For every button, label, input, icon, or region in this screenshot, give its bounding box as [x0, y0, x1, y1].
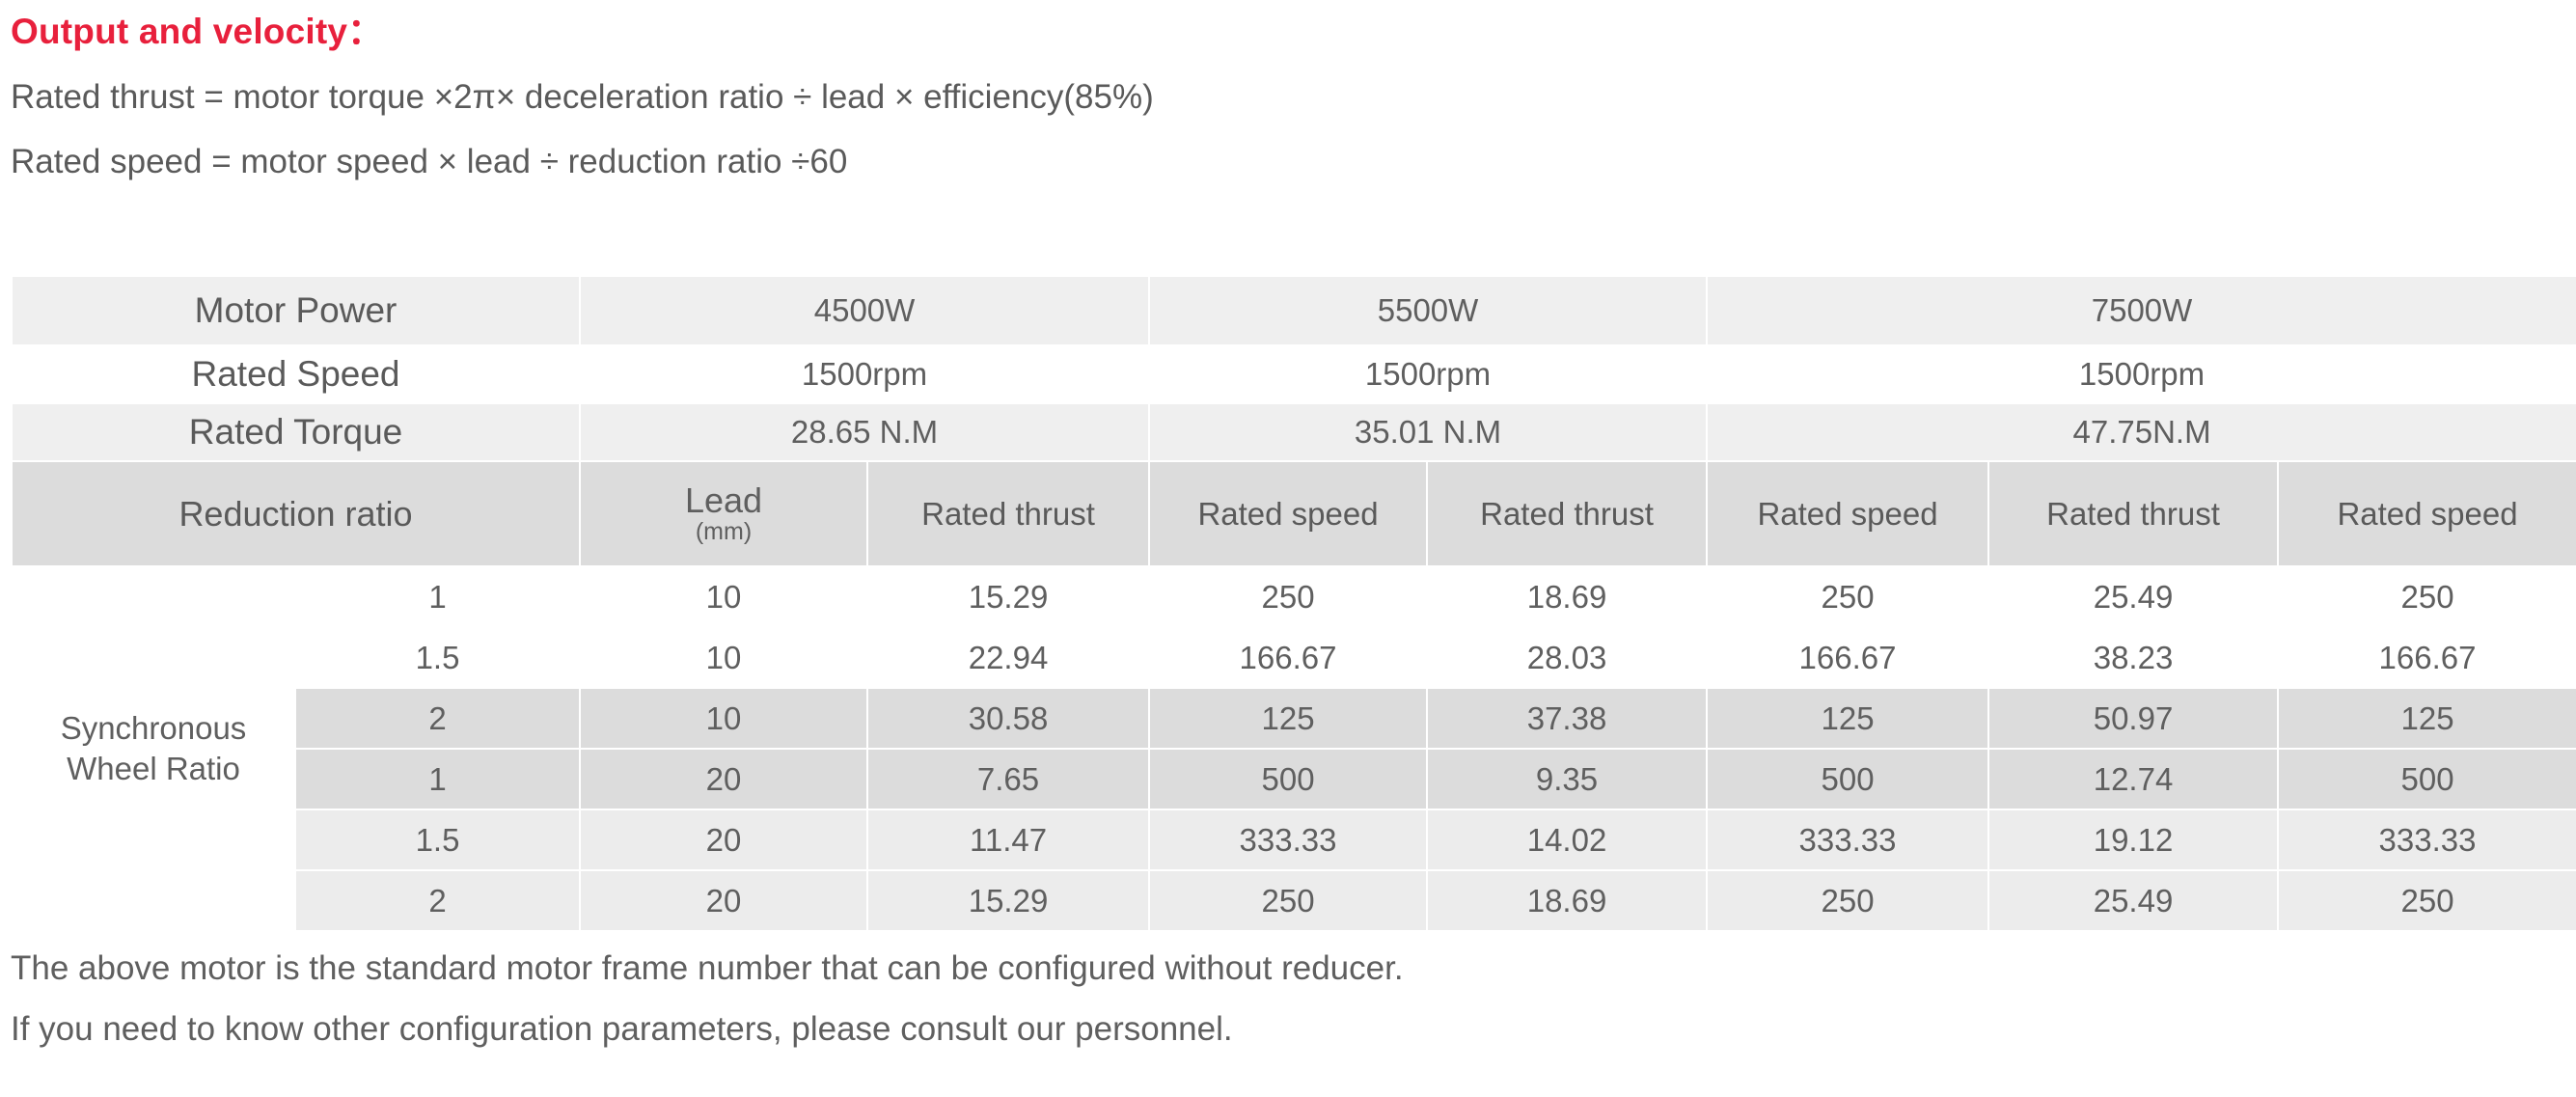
intro-block: Output and velocity： Rated thrust = moto…	[11, 0, 2519, 178]
cell-ratio: 1	[295, 749, 580, 809]
cell-speed-5500: 250	[1707, 566, 1988, 627]
colheader-rated-speed-5500: Rated speed	[1707, 461, 1988, 566]
cell-thrust-5500: 37.38	[1427, 688, 1707, 749]
colheader-rated-speed-7500: Rated speed	[2278, 461, 2576, 566]
cell-thrust-4500: 11.47	[867, 809, 1149, 870]
cell-ratio: 1.5	[295, 809, 580, 870]
formula-rated-speed: Rated speed = motor speed × lead ÷ reduc…	[11, 145, 2519, 178]
colheader-rated-thrust-5500: Rated thrust	[1427, 461, 1707, 566]
colheader-rated-speed-4500: Rated speed	[1149, 461, 1427, 566]
rowgroup-label-synchronous-wheel-ratio: Synchronous Wheel Ratio	[12, 566, 295, 931]
cell-speed-7500: 166.67	[2278, 627, 2576, 688]
cell-speed-5500: 333.33	[1707, 809, 1988, 870]
cell-thrust-5500: 18.69	[1427, 870, 1707, 931]
cell-lead: 20	[580, 870, 867, 931]
cell-rated-torque-7500: 47.75N.M	[1707, 403, 2576, 461]
cell-lead: 20	[580, 809, 867, 870]
cell-rated-torque-5500: 35.01 N.M	[1149, 403, 1707, 461]
cell-thrust-4500: 22.94	[867, 627, 1149, 688]
cell-thrust-4500: 7.65	[867, 749, 1149, 809]
cell-ratio: 2	[295, 870, 580, 931]
cell-speed-4500: 333.33	[1149, 809, 1427, 870]
table-row: Synchronous Wheel Ratio 1 10 15.29 250 1…	[12, 566, 2576, 627]
cell-rated-speed-5500: 1500rpm	[1149, 345, 1707, 403]
cell-lead: 20	[580, 749, 867, 809]
cell-thrust-7500: 12.74	[1988, 749, 2278, 809]
cell-speed-5500: 166.67	[1707, 627, 1988, 688]
table-row: 1 20 7.65 500 9.35 500 12.74 500	[12, 749, 2576, 809]
cell-thrust-7500: 38.23	[1988, 627, 2278, 688]
cell-rated-speed-4500: 1500rpm	[580, 345, 1149, 403]
colheader-reduction-ratio: Reduction ratio	[12, 461, 580, 566]
table-row-rated-torque: Rated Torque 28.65 N.M 35.01 N.M 47.75N.…	[12, 403, 2576, 461]
cell-thrust-4500: 30.58	[867, 688, 1149, 749]
cell-speed-4500: 500	[1149, 749, 1427, 809]
cell-thrust-7500: 25.49	[1988, 870, 2278, 931]
footer-line-2: If you need to know other configuration …	[11, 1012, 2519, 1046]
cell-thrust-7500: 25.49	[1988, 566, 2278, 627]
cell-lead: 10	[580, 627, 867, 688]
cell-motor-power-7500: 7500W	[1707, 276, 2576, 345]
colheader-lead: Lead (mm)	[580, 461, 867, 566]
cell-speed-5500: 125	[1707, 688, 1988, 749]
colheader-rated-thrust-4500: Rated thrust	[867, 461, 1149, 566]
colheader-rated-thrust-7500: Rated thrust	[1988, 461, 2278, 566]
cell-thrust-5500: 18.69	[1427, 566, 1707, 627]
footer-note: The above motor is the standard motor fr…	[11, 924, 2519, 1046]
cell-thrust-5500: 9.35	[1427, 749, 1707, 809]
cell-rated-torque-4500: 28.65 N.M	[580, 403, 1149, 461]
table-column-header-row: Reduction ratio Lead (mm) Rated thrust R…	[12, 461, 2576, 566]
cell-thrust-5500: 14.02	[1427, 809, 1707, 870]
motor-spec-table: Motor Power 4500W 5500W 7500W Rated Spee…	[11, 275, 2576, 932]
cell-speed-4500: 166.67	[1149, 627, 1427, 688]
cell-lead: 10	[580, 688, 867, 749]
cell-speed-7500: 500	[2278, 749, 2576, 809]
cell-ratio: 2	[295, 688, 580, 749]
cell-motor-power-5500: 5500W	[1149, 276, 1707, 345]
page-title: Output and velocity：	[11, 14, 2519, 49]
cell-speed-4500: 250	[1149, 870, 1427, 931]
table-row: 2 10 30.58 125 37.38 125 50.97 125	[12, 688, 2576, 749]
table-row: 2 20 15.29 250 18.69 250 25.49 250	[12, 870, 2576, 931]
cell-thrust-7500: 50.97	[1988, 688, 2278, 749]
cell-speed-7500: 333.33	[2278, 809, 2576, 870]
cell-speed-7500: 125	[2278, 688, 2576, 749]
footer-line-1: The above motor is the standard motor fr…	[11, 951, 2519, 985]
cell-speed-7500: 250	[2278, 566, 2576, 627]
table-row: 1.5 20 11.47 333.33 14.02 333.33 19.12 3…	[12, 809, 2576, 870]
cell-thrust-5500: 28.03	[1427, 627, 1707, 688]
formula-rated-thrust: Rated thrust = motor torque ×2π× deceler…	[11, 80, 2519, 114]
table-row-motor-power: Motor Power 4500W 5500W 7500W	[12, 276, 2576, 345]
label-rated-torque: Rated Torque	[12, 403, 580, 461]
cell-thrust-4500: 15.29	[867, 870, 1149, 931]
table-row-rated-speed: Rated Speed 1500rpm 1500rpm 1500rpm	[12, 345, 2576, 403]
cell-speed-4500: 250	[1149, 566, 1427, 627]
cell-thrust-4500: 15.29	[867, 566, 1149, 627]
cell-ratio: 1	[295, 566, 580, 627]
label-motor-power: Motor Power	[12, 276, 580, 345]
table-row: 1.5 10 22.94 166.67 28.03 166.67 38.23 1…	[12, 627, 2576, 688]
cell-lead: 10	[580, 566, 867, 627]
cell-speed-5500: 250	[1707, 870, 1988, 931]
label-rated-speed: Rated Speed	[12, 345, 580, 403]
cell-speed-5500: 500	[1707, 749, 1988, 809]
cell-rated-speed-7500: 1500rpm	[1707, 345, 2576, 403]
cell-ratio: 1.5	[295, 627, 580, 688]
cell-thrust-7500: 19.12	[1988, 809, 2278, 870]
cell-motor-power-4500: 4500W	[580, 276, 1149, 345]
cell-speed-7500: 250	[2278, 870, 2576, 931]
cell-speed-4500: 125	[1149, 688, 1427, 749]
